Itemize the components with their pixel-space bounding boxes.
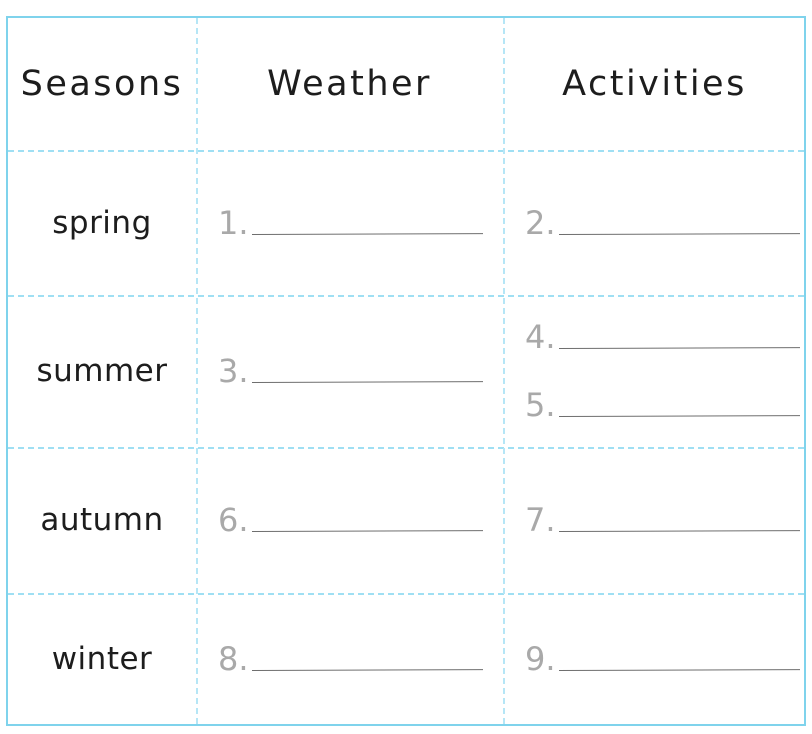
blank-rule-9[interactable] (559, 669, 800, 671)
column-header-weather: Weather (196, 18, 503, 150)
worksheet-page: Seasons Weather Activities spring 1. 2. (0, 0, 812, 734)
season-cell-spring: spring (8, 150, 196, 295)
answer-blank-5[interactable]: 5. (525, 389, 800, 421)
activities-cell-spring: 2. (503, 150, 806, 295)
answer-blank-6[interactable]: 6. (218, 504, 483, 536)
blank-number-5: 5. (525, 389, 559, 421)
blank-number-6: 6. (218, 504, 252, 536)
answer-blank-9[interactable]: 9. (525, 643, 800, 675)
answer-blank-7[interactable]: 7. (525, 504, 800, 536)
season-label-winter: winter (52, 641, 153, 677)
activities-cell-winter: 9. (503, 593, 806, 724)
activities-cell-summer: 4. 5. (503, 295, 806, 447)
column-header-activities: Activities (503, 18, 806, 150)
seasons-table: Seasons Weather Activities spring 1. 2. (6, 16, 806, 726)
weather-cell-spring: 1. (196, 150, 503, 295)
blank-number-9: 9. (525, 643, 559, 675)
blank-number-7: 7. (525, 504, 559, 536)
blank-rule-4[interactable] (559, 347, 800, 349)
answer-blank-2[interactable]: 2. (525, 207, 800, 239)
season-label-spring: spring (52, 205, 152, 241)
column-header-weather-label: Weather (267, 64, 432, 104)
blank-rule-5[interactable] (559, 415, 800, 417)
blank-number-3: 3. (218, 355, 252, 387)
answer-blank-3[interactable]: 3. (218, 355, 483, 387)
answer-blank-1[interactable]: 1. (218, 207, 483, 239)
activities-cell-autumn: 7. (503, 447, 806, 593)
blank-rule-8[interactable] (252, 669, 483, 671)
season-cell-winter: winter (8, 593, 196, 724)
weather-cell-summer: 3. (196, 295, 503, 447)
blank-number-1: 1. (218, 207, 252, 239)
blank-number-8: 8. (218, 643, 252, 675)
blank-rule-6[interactable] (252, 530, 483, 532)
blank-number-2: 2. (525, 207, 559, 239)
weather-cell-winter: 8. (196, 593, 503, 724)
answer-blank-4[interactable]: 4. (525, 321, 800, 353)
season-label-summer: summer (36, 353, 167, 389)
column-header-seasons: Seasons (8, 18, 196, 150)
blank-number-4: 4. (525, 321, 559, 353)
blank-rule-7[interactable] (559, 530, 800, 532)
blank-rule-2[interactable] (559, 233, 800, 235)
blank-rule-3[interactable] (252, 381, 483, 383)
season-cell-summer: summer (8, 295, 196, 447)
weather-cell-autumn: 6. (196, 447, 503, 593)
answer-blank-8[interactable]: 8. (218, 643, 483, 675)
season-label-autumn: autumn (40, 502, 163, 538)
column-header-activities-label: Activities (562, 64, 747, 104)
column-header-seasons-label: Seasons (21, 64, 184, 104)
blank-rule-1[interactable] (252, 233, 483, 235)
season-cell-autumn: autumn (8, 447, 196, 593)
